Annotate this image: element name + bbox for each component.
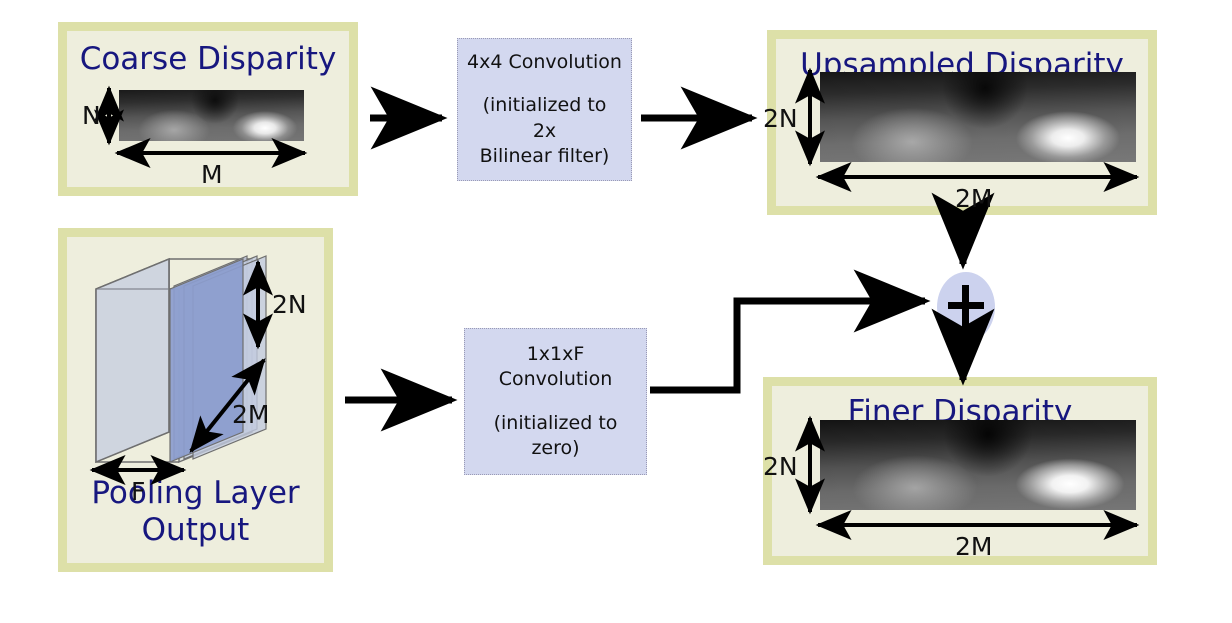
label-upsampled-height: 2N [763, 104, 798, 133]
block-conv-4x4[interactable]: 4x4 Convolution (initialized to 2x Bilin… [457, 38, 632, 181]
conv-1x1xf-line3: (initialized to [494, 411, 618, 436]
upsampled-disparity-image [820, 72, 1136, 162]
coarse-disparity-image [119, 90, 304, 141]
conv-1x1xf-line2: Convolution [499, 367, 613, 392]
panel-title-pooling-layer-line1: Pooling Layer [67, 475, 324, 511]
conv-4x4-line3: 2x [533, 119, 556, 144]
label-upsampled-width: 2M [955, 184, 992, 213]
diagram-canvas: Coarse Disparity Pooling Layer Output Up… [0, 0, 1232, 623]
conv-4x4-line1: 4x4 Convolution [467, 50, 622, 75]
panel-title-pooling-layer-line2: Output [67, 512, 324, 548]
block-conv-1x1xf[interactable]: 1x1xF Convolution (initialized to zero) [464, 328, 647, 475]
sum-node[interactable] [937, 272, 995, 342]
label-pooling-height: 2N [272, 290, 307, 319]
conv-1x1xf-line1: 1x1xF [527, 342, 585, 367]
label-finer-height: 2N [763, 452, 798, 481]
plus-icon-vertical [962, 285, 969, 327]
panel-pooling-layer-output: Pooling Layer Output [58, 228, 333, 572]
conv-4x4-line2: (initialized to [483, 93, 607, 118]
conv-4x4-line4: Bilinear filter) [480, 144, 610, 169]
conv-1x1xf-line4: zero) [531, 436, 579, 461]
panel-title-coarse-disparity: Coarse Disparity [67, 41, 349, 77]
label-finer-width: 2M [955, 532, 992, 561]
label-coarse-width: M [201, 160, 223, 189]
label-pooling-width: F [131, 477, 145, 506]
finer-disparity-image [820, 420, 1136, 510]
label-pooling-depth: 2M [232, 400, 269, 429]
label-coarse-height: N [82, 101, 101, 130]
